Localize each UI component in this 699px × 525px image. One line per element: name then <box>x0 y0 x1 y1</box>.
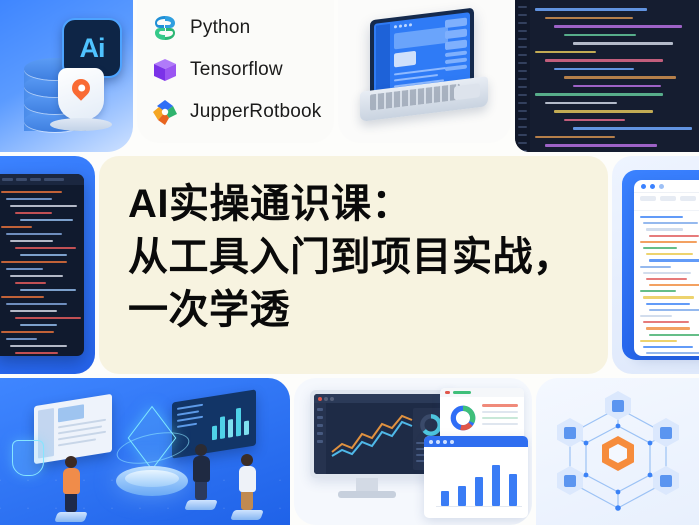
ai-badge-label: Ai <box>80 33 105 64</box>
course-poster: Ai Python <box>0 0 699 525</box>
title-line-1: AI实操通识课： <box>128 178 590 231</box>
analytics-dashboard-illustration <box>294 378 532 525</box>
hexagon-network-diagram <box>536 378 699 525</box>
title-line-3: 一次学透 <box>128 284 590 337</box>
bar <box>492 465 500 506</box>
tool-label: Tensorflow <box>190 59 283 81</box>
isometric-team-illustration <box>0 378 290 525</box>
pinwheel-icon <box>151 98 179 126</box>
database-ai-panel: Ai <box>0 0 133 152</box>
list-item: JupperRotbook <box>151 98 321 126</box>
monitor-stand <box>356 478 378 492</box>
pin-base <box>50 118 112 131</box>
list-item: Tensorflow <box>151 56 321 84</box>
code-editor-icon <box>515 0 699 152</box>
bar <box>475 477 483 506</box>
code-editor-icon <box>0 174 84 356</box>
document-panel <box>612 156 699 374</box>
list-item: Python <box>151 14 321 42</box>
title-panel: AI实操通识课： 从工具入门到项目实战， 一次学透 <box>99 156 608 374</box>
tool-label: Python <box>190 17 250 39</box>
document-screen-icon <box>34 394 112 464</box>
shield-icon <box>12 440 44 476</box>
laptop-panel <box>338 0 511 143</box>
donut-chart-icon <box>440 388 524 442</box>
code-lines <box>535 8 695 152</box>
tool-logos-panel: Python Tensorflow <box>137 0 334 143</box>
location-pin-icon <box>58 68 104 120</box>
python-swirl-icon <box>151 14 179 42</box>
person-figure <box>56 456 86 522</box>
title-line-2: 从工具入门到项目实战， <box>128 231 590 284</box>
bar <box>458 486 466 506</box>
bar-chart-plot <box>436 454 522 506</box>
document-outline-icon <box>634 180 699 356</box>
bar-chart-window-icon <box>424 436 528 518</box>
line-number-gutter <box>515 0 530 152</box>
monitor-foot <box>338 491 396 498</box>
bar <box>509 474 517 506</box>
person-figure <box>186 444 216 510</box>
purple-cube-icon <box>151 56 179 84</box>
bar <box>441 491 449 506</box>
line-chart-icon <box>330 408 414 462</box>
code-editor-left-panel <box>0 156 95 374</box>
podium-icon <box>116 466 188 496</box>
tool-list: Python Tensorflow <box>151 14 321 126</box>
tool-label: JupperRotbook <box>190 101 321 123</box>
page-title: AI实操通识课： 从工具入门到项目实战， 一次学透 <box>128 178 590 337</box>
person-figure <box>232 454 262 520</box>
